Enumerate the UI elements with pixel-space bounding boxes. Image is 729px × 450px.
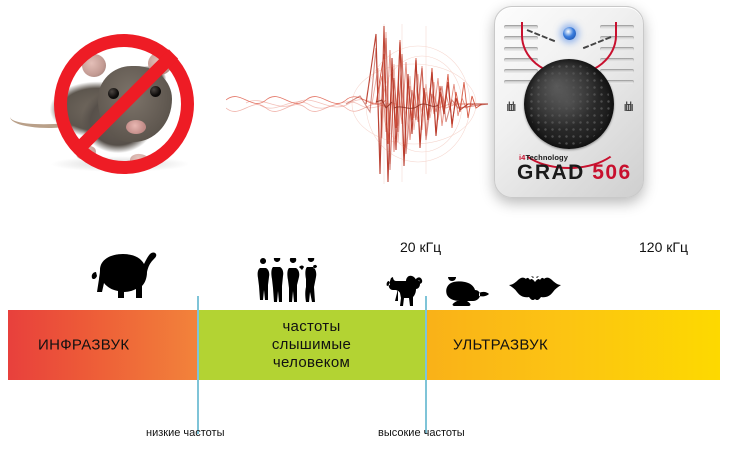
segment-audible-label-line3: человеком: [273, 354, 350, 371]
segment-audible-label: частоты слышимые человеком: [198, 318, 425, 372]
frequency-spectrum-bar: ИНФРАЗВУК частоты слышимые человеком УЛЬ…: [8, 310, 720, 380]
device-model-name: GRAD: [517, 161, 585, 184]
dog-silhouette-icon: [385, 272, 425, 310]
wave-emitter-icon-right: ıǀɪǀı: [623, 99, 632, 114]
segment-infrasound: ИНФРАЗВУК: [8, 310, 198, 380]
segment-ultrasound: УЛЬТРАЗВУК: [425, 310, 720, 380]
ultrasonic-repeller-device: ıǀɪǀı ıǀɪǀı i4Technology GRAD 506: [494, 6, 644, 198]
pest-rat-graphic: [10, 28, 225, 178]
divider-low-frequency: [197, 296, 199, 434]
elephant-silhouette-icon: [88, 248, 160, 304]
wave-emitter-icon-left: ıǀɪǀı: [506, 99, 515, 114]
caption-high-frequency: высокие частоты: [378, 427, 465, 439]
segment-audible-label-line1: частоты: [282, 318, 340, 335]
soundwave-icon: [226, 24, 488, 184]
frequency-mark-20: 20 кГц: [400, 239, 441, 255]
segment-infrasound-label: ИНФРАЗВУК: [38, 337, 129, 354]
divider-high-frequency: [425, 296, 427, 434]
power-led-icon: [563, 27, 576, 40]
segment-audible: частоты слышимые человеком: [198, 310, 425, 380]
device-model-number: 506: [592, 161, 632, 184]
bat-silhouette-icon: [509, 276, 561, 304]
vent-slot: [600, 69, 634, 73]
mouse-silhouette-icon: [443, 277, 489, 307]
illustration-scene: ıǀɪǀı ıǀɪǀı i4Technology GRAD 506: [0, 0, 729, 225]
caption-low-frequency: низкие частоты: [146, 427, 224, 439]
frequency-mark-120: 120 кГц: [639, 239, 688, 255]
device-model: GRAD 506: [517, 161, 632, 185]
segment-audible-label-line2: слышимые: [272, 336, 351, 353]
people-silhouette-icon: [255, 258, 327, 306]
vent-slot: [504, 69, 538, 73]
segment-ultrasound-label: УЛЬТРАЗВУК: [453, 337, 548, 354]
